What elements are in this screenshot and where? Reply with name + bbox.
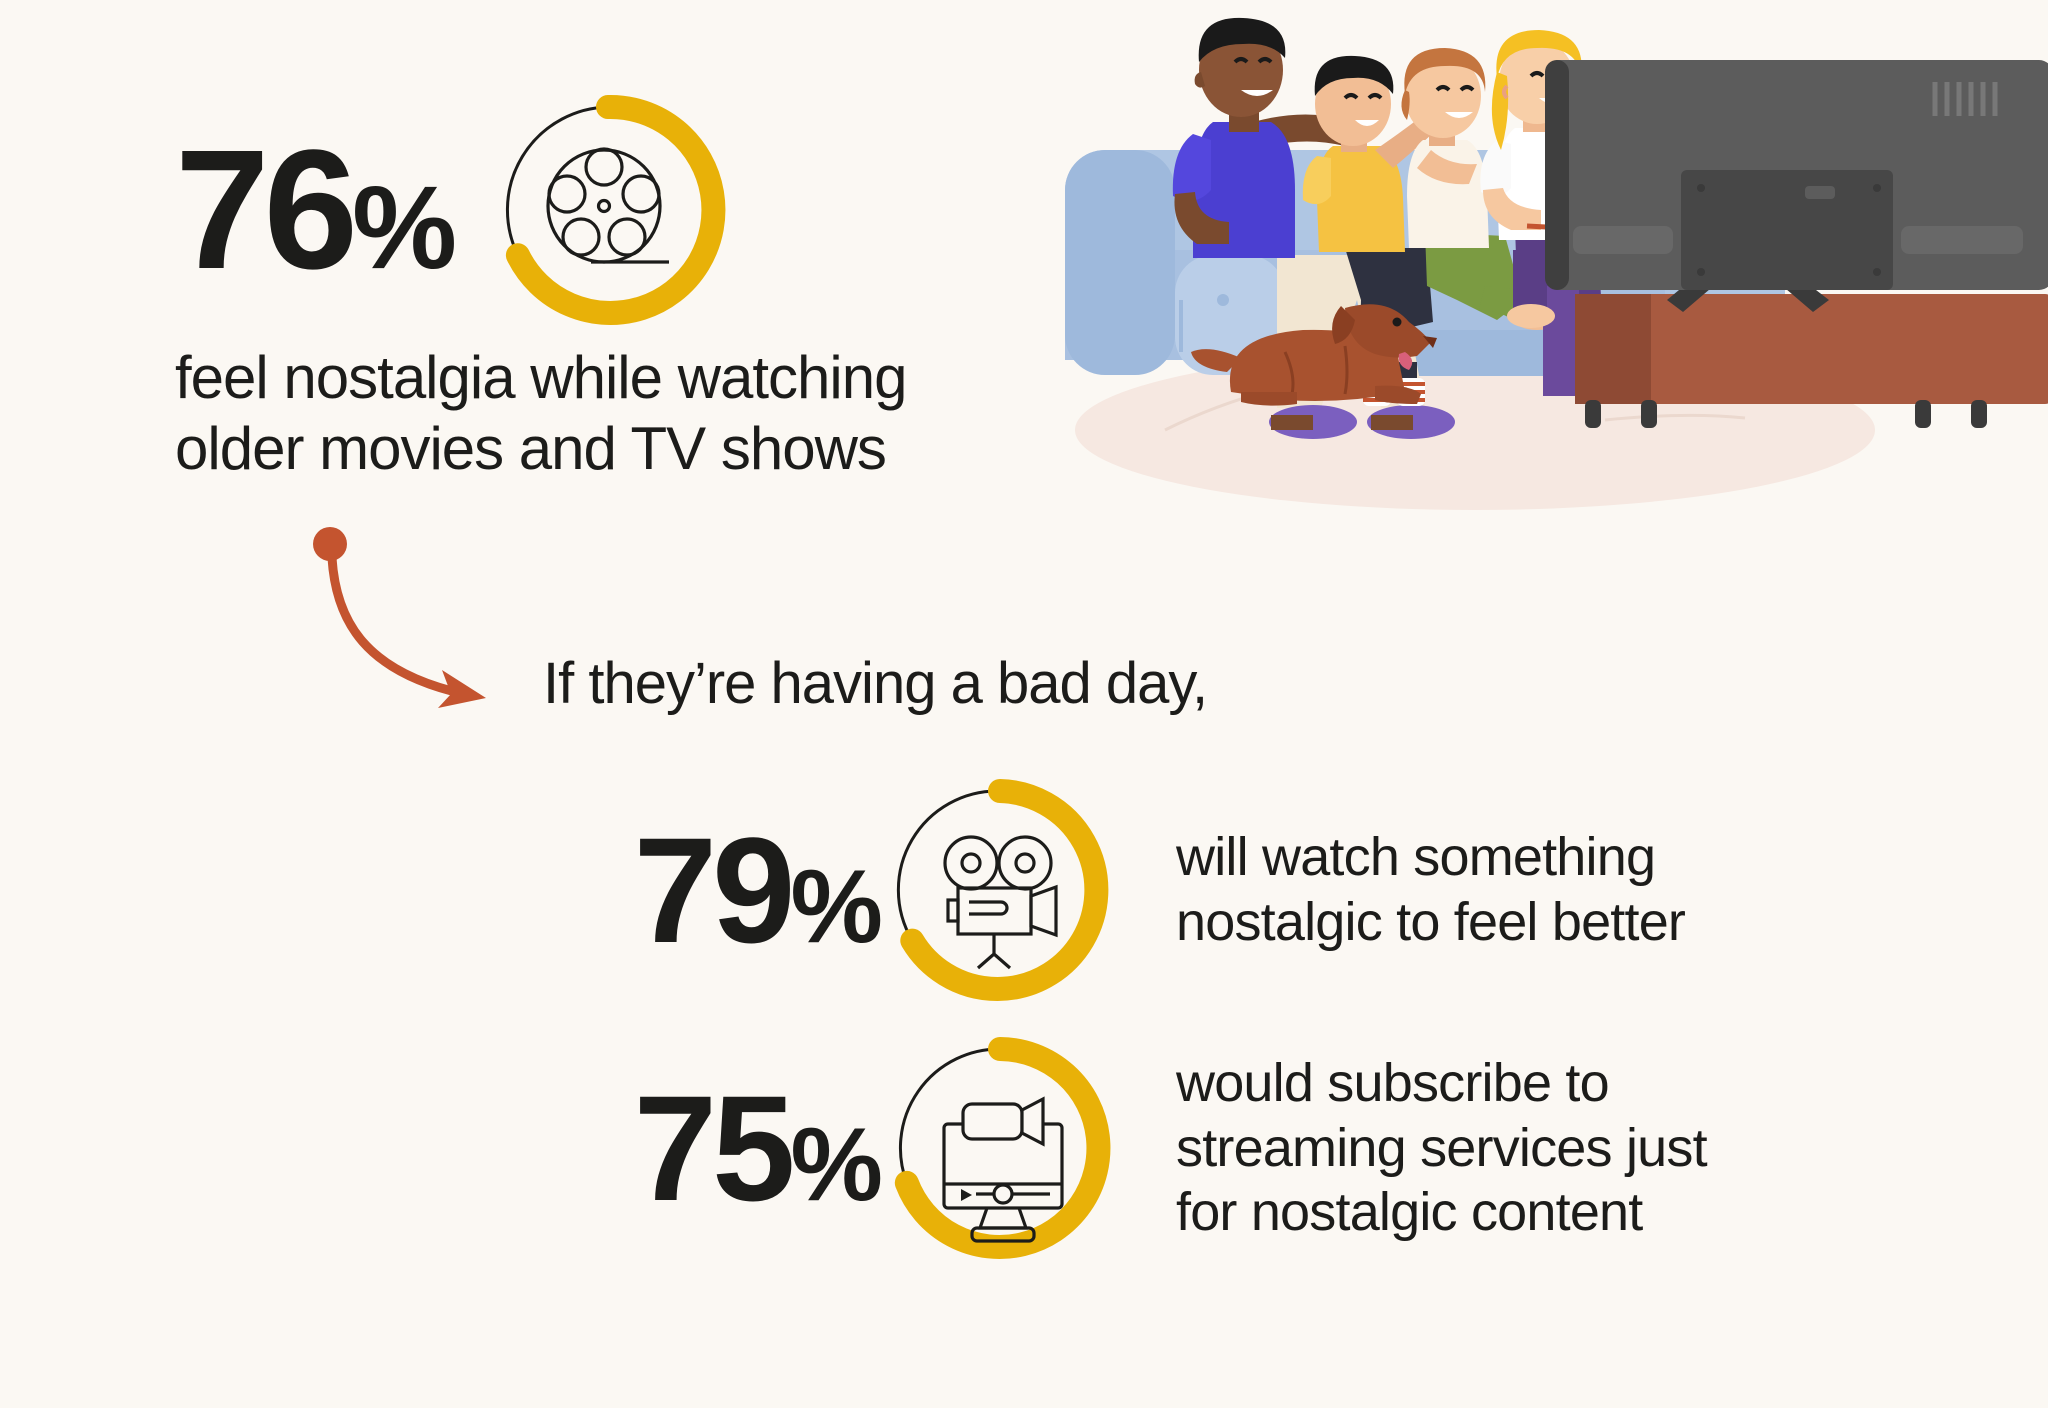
stat-79-percent-symbol: % <box>791 849 880 965</box>
stat-76-value: 76% <box>175 125 453 295</box>
ring-progress-75 <box>907 1049 1099 1247</box>
stat-75-value: 75% <box>550 1073 880 1223</box>
family-watching-tv-illustration <box>1045 0 2048 510</box>
movie-camera-ring <box>880 770 1120 1010</box>
stat-79-value: 79% <box>550 815 880 965</box>
stat-75-caption: would subscribe to streaming services ju… <box>1176 1051 1707 1245</box>
film-reel-icon <box>548 149 669 262</box>
stat-75-caption-line-2: streaming services just <box>1176 1116 1707 1181</box>
stat-76-caption-line-1: feel nostalgia while watching <box>175 343 1055 414</box>
stat-76-caption: feel nostalgia while watching older movi… <box>175 343 1055 485</box>
stat-75-percent-symbol: % <box>791 1107 880 1223</box>
stat-79-caption: will watch something nostalgic to feel b… <box>1176 825 1685 955</box>
stat-76-headline: 76% <box>175 95 1055 325</box>
film-reel-ring <box>483 85 733 335</box>
stat-block-79: 79% will watch something <box>550 770 1685 1010</box>
stat-79-caption-line-1: will watch something <box>1176 825 1685 890</box>
stat-75-number: 75 <box>634 1064 791 1232</box>
stat-76-percent-symbol: % <box>352 162 453 294</box>
ring-progress-79 <box>912 791 1096 989</box>
curved-arrow-icon <box>296 522 526 727</box>
monitor-streaming-ring <box>880 1028 1120 1268</box>
infographic-canvas: 76% <box>0 0 2048 1408</box>
monitor-streaming-icon <box>944 1099 1062 1241</box>
stat-75-caption-line-1: would subscribe to <box>1176 1051 1707 1116</box>
stat-76-caption-line-2: older movies and TV shows <box>175 414 1055 485</box>
stat-block-76: 76% <box>175 95 1055 485</box>
stat-76-number: 76 <box>175 115 352 305</box>
stat-79-caption-line-2: nostalgic to feel better <box>1176 890 1685 955</box>
bad-day-label: If they’re having a bad day, <box>543 650 1207 717</box>
stat-block-75: 75% would subscribe to <box>550 1028 1707 1268</box>
movie-camera-icon <box>945 837 1056 968</box>
television <box>1545 60 2048 312</box>
stat-75-caption-line-3: for nostalgic content <box>1176 1180 1707 1245</box>
stat-79-number: 79 <box>634 806 791 974</box>
